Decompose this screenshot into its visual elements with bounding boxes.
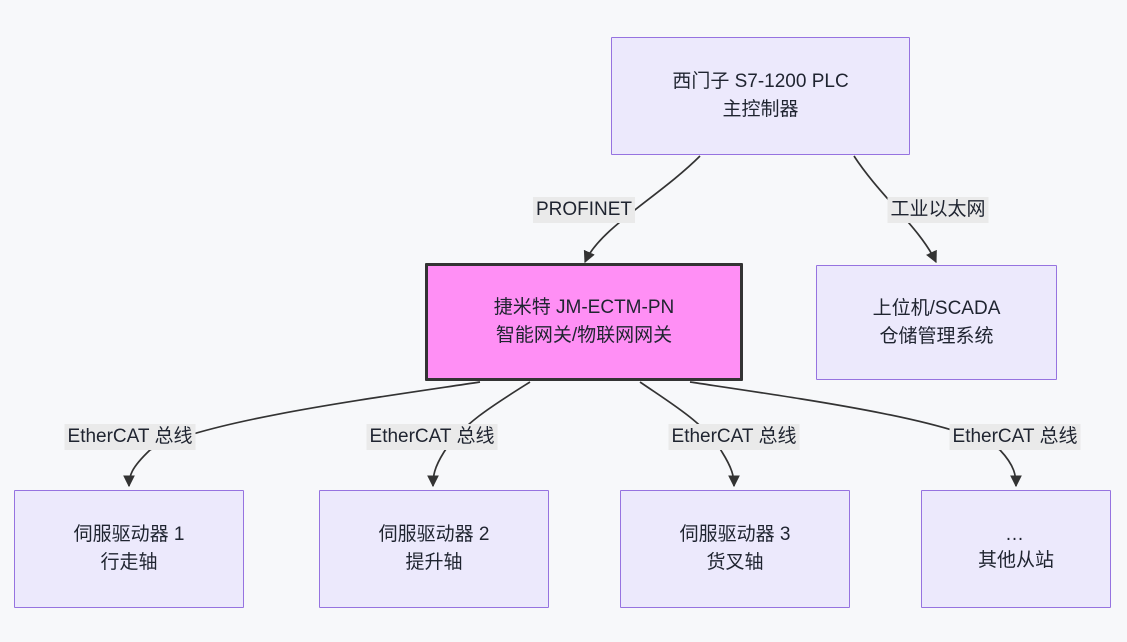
edge-label-ethercat-4: EtherCAT 总线 bbox=[950, 424, 1081, 450]
node-others-line1: … bbox=[1005, 524, 1027, 547]
node-gateway-line2: 智能网关/物联网网关 bbox=[496, 322, 672, 350]
node-scada[interactable]: 上位机/SCADA 仓储管理系统 bbox=[816, 265, 1057, 380]
node-servo2[interactable]: 伺服驱动器 2 提升轴 bbox=[319, 490, 549, 608]
node-scada-line1: 上位机/SCADA bbox=[873, 295, 1001, 323]
node-gateway-line1: 捷米特 JM-ECTM-PN bbox=[494, 294, 674, 322]
node-servo2-line2: 提升轴 bbox=[405, 549, 462, 577]
node-servo3-line1: 伺服驱动器 3 bbox=[680, 521, 791, 549]
edge-label-ethercat-2: EtherCAT 总线 bbox=[367, 424, 498, 450]
node-servo3[interactable]: 伺服驱动器 3 货叉轴 bbox=[620, 490, 850, 608]
node-others-line2: 其他从站 bbox=[978, 547, 1054, 575]
node-servo1[interactable]: 伺服驱动器 1 行走轴 bbox=[14, 490, 244, 608]
edge-label-profinet: PROFINET bbox=[533, 197, 635, 223]
edge-label-industrial-ethernet: 工业以太网 bbox=[887, 197, 988, 223]
node-plc-line2: 主控制器 bbox=[722, 96, 798, 124]
flowchart-diagram: 西门子 S7-1200 PLC 主控制器 捷米特 JM-ECTM-PN 智能网关… bbox=[0, 0, 1127, 642]
node-gateway[interactable]: 捷米特 JM-ECTM-PN 智能网关/物联网网关 bbox=[425, 263, 743, 381]
edge-label-ethercat-3: EtherCAT 总线 bbox=[669, 424, 800, 450]
node-scada-line2: 仓储管理系统 bbox=[879, 323, 993, 351]
node-servo1-line1: 伺服驱动器 1 bbox=[74, 521, 185, 549]
node-servo2-line1: 伺服驱动器 2 bbox=[379, 521, 490, 549]
edge-label-ethercat-1: EtherCAT 总线 bbox=[65, 424, 196, 450]
node-others[interactable]: … 其他从站 bbox=[921, 490, 1111, 608]
node-servo1-line2: 行走轴 bbox=[100, 549, 157, 577]
node-plc-line1: 西门子 S7-1200 PLC bbox=[672, 68, 848, 96]
node-servo3-line2: 货叉轴 bbox=[706, 549, 763, 577]
node-plc[interactable]: 西门子 S7-1200 PLC 主控制器 bbox=[611, 37, 910, 155]
